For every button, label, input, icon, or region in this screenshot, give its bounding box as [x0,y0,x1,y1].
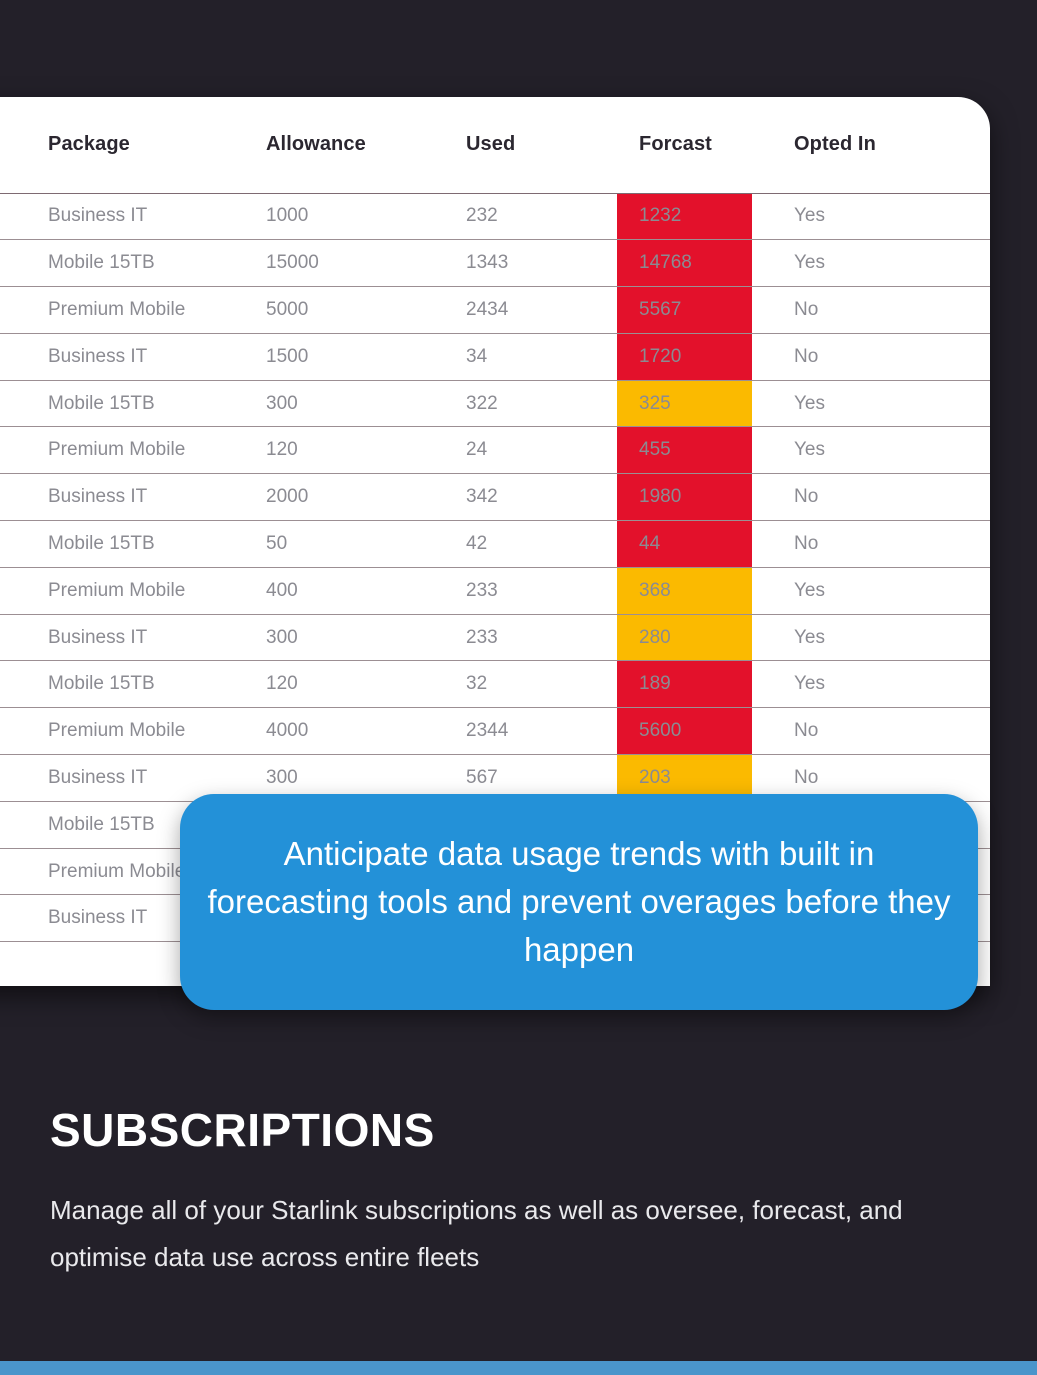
cell-forecast: 455 [617,427,752,474]
section-heading: SUBSCRIPTIONS [50,1103,930,1157]
cell-forecast-text: 1232 [617,205,752,227]
cell-package-text: Premium Mobile [0,439,244,461]
cell-used-text: 34 [436,346,617,368]
cell-used-text: 2434 [436,299,617,321]
cell-used: 24 [436,427,617,474]
cell-forecast: 368 [617,567,752,614]
cell-opted-in: No [752,333,990,380]
section-body: Manage all of your Starlink subscription… [50,1187,910,1282]
cell-allowance-text: 400 [244,580,436,602]
cell-package: Mobile 15TB [0,521,244,568]
table-row[interactable]: Business IT1500341720No [0,333,990,380]
cell-allowance-text: 1500 [244,346,436,368]
column-header-allowance-label: Allowance [244,133,436,156]
cell-allowance: 15000 [244,240,436,287]
feature-callout: Anticipate data usage trends with built … [180,794,978,1010]
cell-used: 233 [436,614,617,661]
cell-opted-in-text: Yes [752,252,990,274]
cell-package: Premium Mobile [0,287,244,334]
cell-opted-in: No [752,474,990,521]
cell-package: Premium Mobile [0,567,244,614]
cell-used-text: 567 [436,767,617,789]
cell-opted-in-text: Yes [752,580,990,602]
column-header-allowance[interactable]: Allowance [244,97,436,193]
cell-forecast-text: 325 [617,393,752,415]
table-row[interactable]: Premium Mobile12024455Yes [0,427,990,474]
cell-package: Mobile 15TB [0,240,244,287]
cell-forecast-text: 189 [617,673,752,695]
cell-allowance: 1000 [244,193,436,240]
cell-package-text: Mobile 15TB [0,673,244,695]
cell-opted-in-text: Yes [752,439,990,461]
page-root: Package Allowance Used Forcast Opted In … [0,0,1037,1375]
table-row[interactable]: Mobile 15TB12032189Yes [0,661,990,708]
column-header-forecast-label: Forcast [617,133,752,156]
cell-opted-in: Yes [752,240,990,287]
table-row[interactable]: Mobile 15TB504244No [0,521,990,568]
cell-package-text: Business IT [0,627,244,649]
cell-package-text: Business IT [0,767,244,789]
table-row[interactable]: Business IT10002321232Yes [0,193,990,240]
cell-package-text: Business IT [0,486,244,508]
table-row[interactable]: Mobile 15TB15000134314768Yes [0,240,990,287]
cell-opted-in: Yes [752,193,990,240]
cell-forecast: 1980 [617,474,752,521]
cell-package-text: Premium Mobile [0,720,244,742]
column-header-opted-in-label: Opted In [752,133,990,156]
cell-forecast: 1232 [617,193,752,240]
cell-package: Business IT [0,474,244,521]
feature-callout-text: Anticipate data usage trends with built … [180,830,978,974]
cell-forecast-text: 1980 [617,486,752,508]
table-row[interactable]: Premium Mobile500024345567No [0,287,990,334]
cell-forecast: 44 [617,521,752,568]
cell-package-text: Mobile 15TB [0,533,244,555]
cell-forecast: 189 [617,661,752,708]
cell-package: Mobile 15TB [0,380,244,427]
cell-forecast-text: 5600 [617,720,752,742]
cell-opted-in-text: No [752,486,990,508]
cell-used: 232 [436,193,617,240]
cell-opted-in-text: Yes [752,205,990,227]
cell-used: 2434 [436,287,617,334]
cell-used: 322 [436,380,617,427]
table-header-row: Package Allowance Used Forcast Opted In [0,97,990,193]
cell-forecast-text: 5567 [617,299,752,321]
cell-allowance: 300 [244,614,436,661]
cell-opted-in-text: Yes [752,673,990,695]
cell-used-text: 42 [436,533,617,555]
cell-allowance: 300 [244,380,436,427]
cell-package: Business IT [0,333,244,380]
cell-allowance: 120 [244,661,436,708]
cell-forecast-text: 14768 [617,252,752,274]
column-header-forecast[interactable]: Forcast [617,97,752,193]
cell-allowance-text: 5000 [244,299,436,321]
cell-used-text: 24 [436,439,617,461]
cell-package-text: Business IT [0,205,244,227]
column-header-opted-in[interactable]: Opted In [752,97,990,193]
cell-opted-in: Yes [752,567,990,614]
section-copy: SUBSCRIPTIONS Manage all of your Starlin… [50,1103,930,1282]
cell-opted-in: No [752,287,990,334]
cell-allowance-text: 4000 [244,720,436,742]
cell-opted-in-text: No [752,720,990,742]
cell-opted-in: No [752,708,990,755]
table-row[interactable]: Business IT300233280Yes [0,614,990,661]
cell-used-text: 1343 [436,252,617,274]
cell-opted-in: No [752,521,990,568]
cell-opted-in-text: No [752,346,990,368]
cell-used-text: 233 [436,580,617,602]
cell-forecast-text: 455 [617,439,752,461]
cell-forecast: 325 [617,380,752,427]
column-header-used-label: Used [436,133,617,156]
cell-forecast-text: 368 [617,580,752,602]
cell-used-text: 342 [436,486,617,508]
cell-allowance: 400 [244,567,436,614]
cell-allowance-text: 300 [244,627,436,649]
column-header-package[interactable]: Package [0,97,244,193]
cell-allowance-text: 120 [244,673,436,695]
cell-forecast-text: 44 [617,533,752,555]
table-row[interactable]: Business IT20003421980No [0,474,990,521]
cell-opted-in: Yes [752,614,990,661]
cell-opted-in: Yes [752,661,990,708]
cell-allowance-text: 300 [244,767,436,789]
cell-opted-in: Yes [752,427,990,474]
cell-used-text: 32 [436,673,617,695]
cell-used: 42 [436,521,617,568]
cell-allowance-text: 50 [244,533,436,555]
cell-allowance: 1500 [244,333,436,380]
cell-used: 1343 [436,240,617,287]
cell-forecast: 1720 [617,333,752,380]
cell-used-text: 322 [436,393,617,415]
cell-forecast: 280 [617,614,752,661]
cell-allowance: 120 [244,427,436,474]
cell-used: 342 [436,474,617,521]
cell-used-text: 232 [436,205,617,227]
cell-used: 233 [436,567,617,614]
table-row[interactable]: Premium Mobile400023445600No [0,708,990,755]
cell-used-text: 2344 [436,720,617,742]
cell-allowance: 2000 [244,474,436,521]
cell-allowance-text: 1000 [244,205,436,227]
cell-used: 2344 [436,708,617,755]
cell-allowance: 50 [244,521,436,568]
table-header: Package Allowance Used Forcast Opted In [0,97,990,193]
cell-package: Mobile 15TB [0,661,244,708]
cell-forecast: 14768 [617,240,752,287]
column-header-used[interactable]: Used [436,97,617,193]
cell-used: 34 [436,333,617,380]
cell-forecast-text: 280 [617,627,752,649]
cell-package-text: Business IT [0,346,244,368]
cell-forecast-text: 1720 [617,346,752,368]
cell-opted-in-text: No [752,767,990,789]
cell-allowance: 4000 [244,708,436,755]
cell-package: Premium Mobile [0,708,244,755]
column-header-package-label: Package [0,133,244,156]
cell-package: Business IT [0,193,244,240]
cell-opted-in-text: No [752,533,990,555]
cell-allowance-text: 120 [244,439,436,461]
cell-allowance-text: 300 [244,393,436,415]
cell-forecast: 5600 [617,708,752,755]
cell-used-text: 233 [436,627,617,649]
cell-opted-in-text: No [752,299,990,321]
cell-opted-in-text: Yes [752,393,990,415]
cell-package: Premium Mobile [0,427,244,474]
cell-allowance-text: 2000 [244,486,436,508]
cell-forecast-text: 203 [617,767,752,789]
table-row[interactable]: Premium Mobile400233368Yes [0,567,990,614]
cell-package-text: Mobile 15TB [0,393,244,415]
cell-forecast: 5567 [617,287,752,334]
bottom-accent-bar [0,1361,1037,1375]
cell-package-text: Premium Mobile [0,580,244,602]
cell-package: Business IT [0,614,244,661]
cell-opted-in: Yes [752,380,990,427]
cell-allowance: 5000 [244,287,436,334]
cell-allowance-text: 15000 [244,252,436,274]
cell-opted-in-text: Yes [752,627,990,649]
table-row[interactable]: Mobile 15TB300322325Yes [0,380,990,427]
cell-package-text: Mobile 15TB [0,252,244,274]
cell-used: 32 [436,661,617,708]
cell-package-text: Premium Mobile [0,299,244,321]
